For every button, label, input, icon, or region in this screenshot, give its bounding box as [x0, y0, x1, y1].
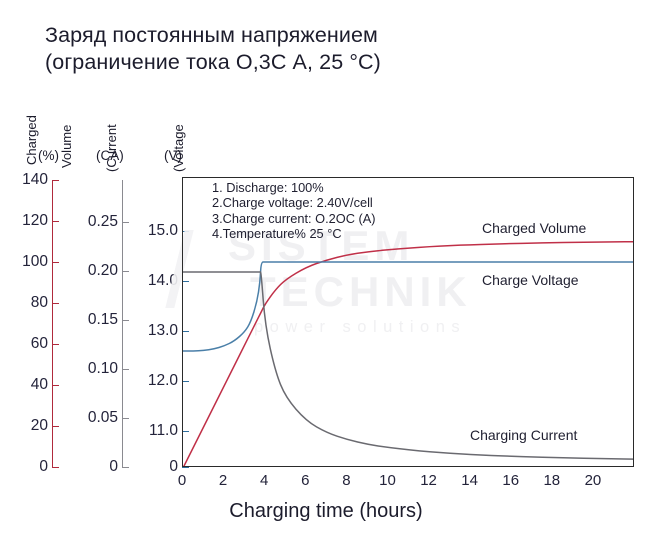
- x-axis-title: Charging time (hours): [0, 500, 652, 523]
- axis-tick-label: 0.25: [88, 213, 118, 231]
- axis-tick-mark: [122, 467, 129, 468]
- axis-tick-mark: [52, 467, 59, 468]
- axis-tick-mark: [52, 221, 59, 222]
- axis-tick-label: 0.10: [88, 360, 118, 378]
- series-label-charged-volume: Charged Volume: [482, 220, 586, 236]
- axis-tick-label: 100: [22, 253, 48, 271]
- axis-tick-label: 120: [22, 212, 48, 230]
- x-axis-tick-label: 10: [379, 472, 396, 489]
- series-label-charging-current: Charging Current: [470, 427, 577, 443]
- chart-note-3: 3.Charge current: О.2ОС (A): [212, 211, 376, 226]
- axis-tick-mark: [122, 222, 129, 223]
- x-axis-tick-label: 14: [461, 472, 478, 489]
- axis-tick-label: 14.0: [148, 272, 178, 290]
- axis-tick-mark: [182, 467, 189, 468]
- axis-tick-mark: [52, 426, 59, 427]
- axis-tick-mark: [52, 385, 59, 386]
- axis-tick-label: 0: [169, 458, 178, 476]
- axis-charged-volume-line: [52, 180, 53, 467]
- x-axis-tick-label: 12: [420, 472, 437, 489]
- axis-caption-charged: Charged: [24, 115, 39, 165]
- page-title: Заряд постоянным напряжением (ограничени…: [45, 22, 625, 76]
- axis-tick-label: 0.20: [88, 262, 118, 280]
- axis-tick-mark: [52, 180, 59, 181]
- chart-note-4: 4.Temperature% 25 °C: [212, 226, 376, 241]
- axis-tick-label: 0.15: [88, 311, 118, 329]
- axis-tick-mark: [122, 320, 129, 321]
- x-axis-tick-label: 16: [502, 472, 519, 489]
- x-axis-tick-label: 6: [301, 472, 309, 489]
- series-label-charge-voltage: Charge Voltage: [482, 272, 579, 288]
- axis-caption-volume: Volume: [59, 125, 74, 168]
- x-axis-tick-label: 8: [342, 472, 350, 489]
- x-axis-tick-label: 2: [219, 472, 227, 489]
- axis-tick-mark: [52, 262, 59, 263]
- axis-tick-mark: [122, 271, 129, 272]
- x-axis-tick-label: 18: [543, 472, 560, 489]
- x-axis-tick-label: 4: [260, 472, 268, 489]
- axis-tick-label: 0.05: [88, 409, 118, 427]
- axis-caption-current: (Current: [104, 124, 119, 172]
- x-axis-tick-label: 20: [585, 472, 602, 489]
- axis-tick-label: 12.0: [148, 372, 178, 390]
- axis-tick-label: 60: [31, 335, 48, 353]
- chart-note-2: 2.Charge voltage: 2.40V/cell: [212, 195, 376, 210]
- axis-tick-label: 0: [109, 458, 118, 476]
- axis-tick-mark: [122, 369, 129, 370]
- axis-current-line: [122, 180, 123, 467]
- axis-unit-charged: (%): [38, 148, 59, 163]
- axis-tick-mark: [122, 418, 129, 419]
- axis-tick-label: 80: [31, 294, 48, 312]
- axis-tick-label: 11.0: [149, 422, 178, 440]
- chart-note-1: 1. Discharge: 100%: [212, 180, 376, 195]
- axis-tick-label: 140: [22, 171, 48, 189]
- axis-tick-mark: [52, 344, 59, 345]
- x-axis-tick-label: 0: [178, 472, 186, 489]
- axis-tick-mark: [52, 303, 59, 304]
- chart-notes: 1. Discharge: 100% 2.Charge voltage: 2.4…: [212, 180, 376, 242]
- axis-tick-label: 0: [39, 458, 48, 476]
- axis-tick-label: 40: [31, 376, 48, 394]
- axis-tick-label: 15.0: [148, 222, 178, 240]
- axis-unit-voltage: (V): [164, 148, 182, 163]
- axis-tick-label: 13.0: [148, 322, 178, 340]
- axis-tick-label: 20: [31, 417, 48, 435]
